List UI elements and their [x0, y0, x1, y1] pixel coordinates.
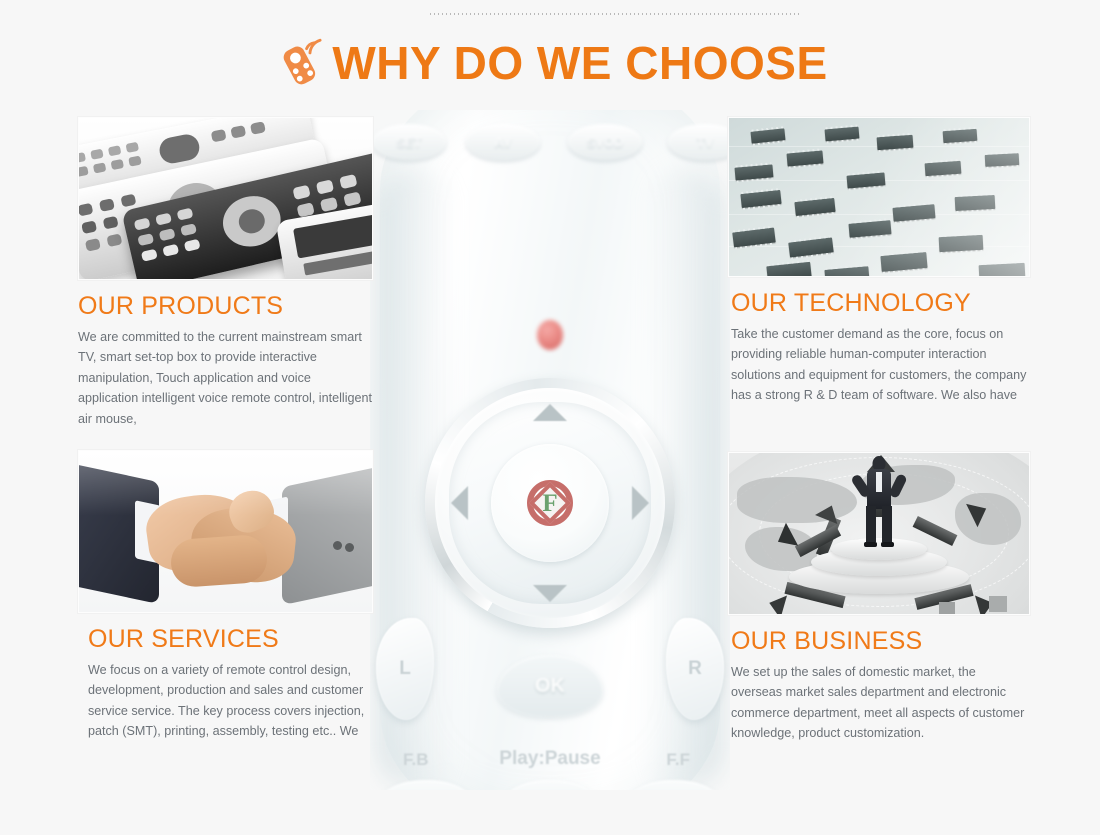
central-remote-control-photo: SET AV SVOD TV F L R OK F.B Play:Pau — [370, 110, 730, 790]
arrow-down-icon[interactable] — [533, 585, 567, 602]
remote-control-signal-icon — [272, 36, 326, 90]
remote-top-button-svod[interactable]: SVOD — [568, 124, 642, 160]
card-heading: OUR PRODUCTS — [78, 292, 373, 321]
card-body: We focus on a variety of remote control … — [88, 660, 373, 742]
label-fast-forward: F.F — [666, 750, 690, 770]
card-products: OUR PRODUCTS We are committed to the cur… — [78, 117, 373, 429]
card-body: Take the customer demand as the core, fo… — [731, 324, 1030, 406]
brand-logo-icon: F — [527, 480, 573, 526]
tv-remote-controls-photo — [78, 117, 373, 280]
infrared-led-icon — [537, 320, 563, 350]
card-heading: OUR SERVICES — [88, 625, 373, 654]
arrow-up-icon[interactable] — [533, 404, 567, 421]
remote-top-button-av[interactable]: AV — [466, 124, 540, 160]
arrow-right-icon[interactable] — [632, 486, 649, 520]
remote-dpad[interactable]: F — [425, 378, 675, 628]
card-business: OUR BUSINESS We set up the sales of dome… — [728, 452, 1030, 744]
businessman-figure — [862, 456, 896, 544]
card-body: We set up the sales of domestic market, … — [731, 662, 1030, 744]
dotted-divider — [430, 13, 802, 15]
arrow-left-icon[interactable] — [451, 486, 468, 520]
businessman-world-map-arrows-photo — [728, 452, 1030, 615]
remote-ok-button[interactable]: OK — [497, 655, 603, 717]
page-title-row: WHY DO WE CHOOSE — [0, 36, 1100, 90]
remote-top-button-set[interactable]: SET — [372, 124, 446, 160]
card-services: OUR SERVICES We focus on a variety of re… — [78, 450, 373, 742]
card-heading: OUR TECHNOLOGY — [731, 289, 1030, 318]
page-title: WHY DO WE CHOOSE — [332, 40, 827, 86]
page-root: SET AV SVOD TV F L R OK F.B Play:Pau — [0, 0, 1100, 835]
dpad-center-button[interactable]: F — [491, 444, 609, 562]
business-handshake-photo — [78, 450, 373, 613]
card-technology: OUR TECHNOLOGY Take the customer demand … — [728, 117, 1030, 406]
logo-letter: F — [542, 491, 557, 516]
label-play-pause: Play:Pause — [499, 748, 600, 770]
label-fast-backward: F.B — [403, 750, 429, 770]
card-body: We are committed to the current mainstre… — [78, 327, 373, 429]
card-heading: OUR BUSINESS — [731, 627, 1030, 656]
circuit-board-pcb-photo — [728, 117, 1030, 277]
